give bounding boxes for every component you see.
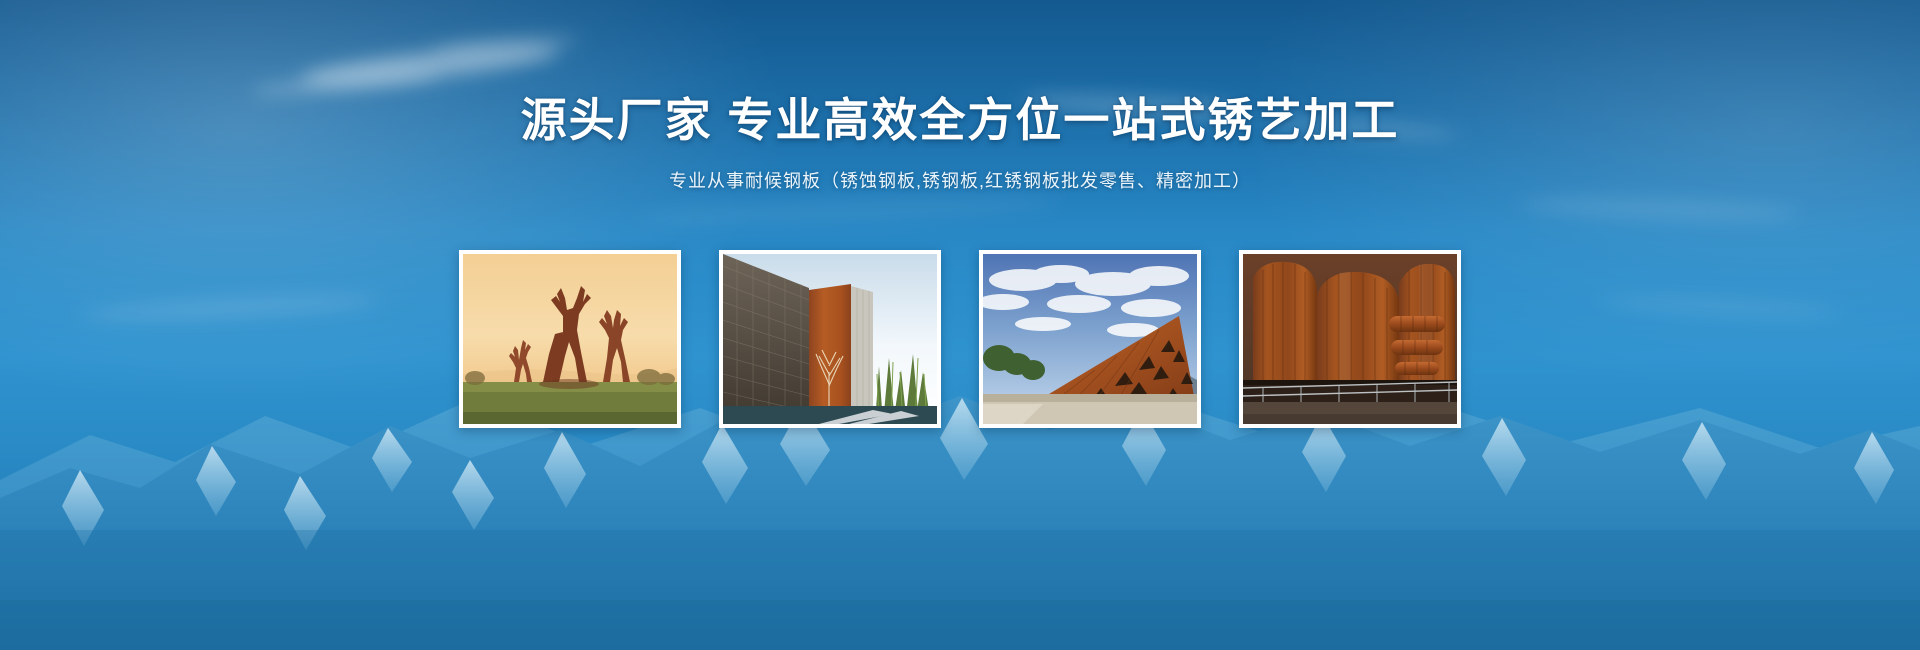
- headline-block: 源头厂家 专业高效全方位一站式锈艺加工 专业从事耐候钢板（锈蚀钢板,锈钢板,红锈…: [0, 92, 1920, 194]
- cloud-wisp: [1520, 195, 1800, 223]
- page-subtitle: 专业从事耐候钢板（锈蚀钢板,锈钢板,红锈钢板批发零售、精密加工）: [0, 168, 1920, 194]
- cloud-wisp: [640, 193, 1060, 228]
- cloud-wisp: [1260, 113, 1461, 143]
- thumbnail-gallery: [0, 250, 1920, 428]
- thumbnail-perforated-wall[interactable]: [719, 250, 941, 428]
- cloud-wisp: [1020, 90, 1251, 122]
- thumbnail-curved-facade[interactable]: [1239, 250, 1461, 428]
- hero-banner: 源头厂家 专业高效全方位一站式锈艺加工 专业从事耐候钢板（锈蚀钢板,锈钢板,红锈…: [0, 0, 1920, 650]
- cloud-wisp: [430, 33, 581, 57]
- cloud-wisp: [250, 68, 441, 100]
- sky-top-shade: [0, 0, 1920, 230]
- triangular-pavilion-image: [983, 254, 1197, 424]
- perforated-wall-image: [723, 254, 937, 424]
- page-title: 源头厂家 专业高效全方位一站式锈艺加工: [0, 92, 1920, 148]
- thumbnail-deer-sculpture[interactable]: [459, 250, 681, 428]
- deer-sculpture-image: [463, 254, 677, 424]
- curved-facade-image: [1243, 254, 1457, 424]
- cloud-wisp: [299, 38, 560, 91]
- thumbnail-triangular-pavilion[interactable]: [979, 250, 1201, 428]
